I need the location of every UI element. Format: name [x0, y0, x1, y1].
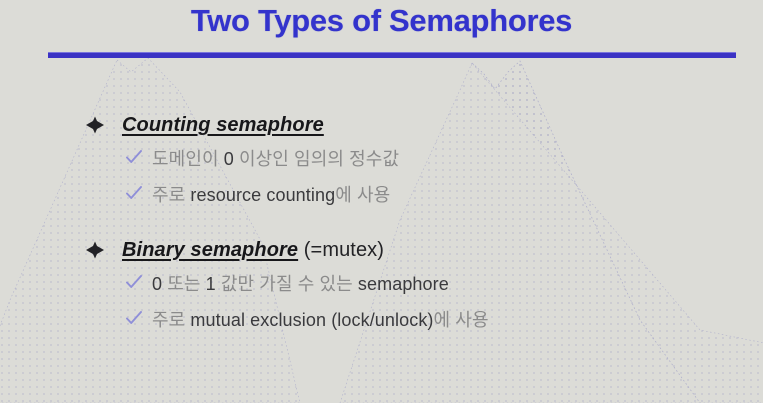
dart-bullet-icon	[84, 241, 106, 259]
list-item-text: 주로 resource counting에 사용	[152, 181, 390, 207]
check-icon	[126, 275, 142, 290]
text-latin-2: 1	[206, 274, 216, 294]
text-latin-3: semaphore	[358, 274, 449, 294]
list-item: 주로 resource counting에 사용	[126, 181, 399, 217]
text-latin: resource counting	[190, 185, 335, 205]
text-latin: mutual exclusion (lock/unlock)	[190, 310, 433, 330]
text-latin: 0	[224, 149, 234, 169]
list-item: 도메인이 0 이상인 임의의 정수값	[126, 145, 399, 181]
section-heading: Binary semaphore (=mutex)	[122, 239, 384, 262]
text-pre: 도메인이	[152, 149, 224, 169]
list-item: 0 또는 1 값만 가질 수 있는 semaphore	[126, 270, 489, 306]
text-post: 에 사용	[434, 310, 489, 330]
text-latin: 0	[152, 274, 162, 294]
check-icon	[126, 186, 142, 201]
text-pre: 주로	[152, 185, 190, 205]
section-heading-row: Binary semaphore (=mutex)	[84, 239, 489, 265]
slide-title: Two Types of Semaphores	[0, 3, 763, 39]
text-post: 에 사용	[335, 185, 390, 205]
section-heading-suffix: (=mutex)	[298, 239, 384, 261]
section-heading-main: Binary semaphore	[122, 239, 298, 261]
section-heading-row: Counting semaphore	[84, 114, 399, 140]
list-item-text: 주로 mutual exclusion (lock/unlock)에 사용	[152, 306, 489, 332]
text-post: 또는	[162, 274, 206, 294]
text-post: 이상인 임의의 정수값	[234, 149, 399, 169]
text-post-2: 값만 가질 수 있는	[216, 274, 358, 294]
check-icon	[126, 311, 142, 326]
section-heading: Counting semaphore	[122, 114, 324, 137]
dart-bullet-icon	[84, 116, 106, 134]
section-counting-semaphore: Counting semaphore 도메인이 0 이상인 임의의 정수값 주로…	[84, 114, 399, 217]
section-heading-main: Counting semaphore	[122, 114, 324, 136]
list-item-text: 0 또는 1 값만 가질 수 있는 semaphore	[152, 270, 449, 296]
section-binary-semaphore: Binary semaphore (=mutex) 0 또는 1 값만 가질 수…	[84, 239, 489, 342]
list-item: 주로 mutual exclusion (lock/unlock)에 사용	[126, 306, 489, 342]
slide-canvas: Two Types of Semaphores Counting semapho…	[0, 0, 763, 403]
list-item-text: 도메인이 0 이상인 임의의 정수값	[152, 145, 399, 171]
check-icon	[126, 150, 142, 165]
text-pre: 주로	[152, 310, 190, 330]
title-divider-rule	[48, 52, 736, 58]
